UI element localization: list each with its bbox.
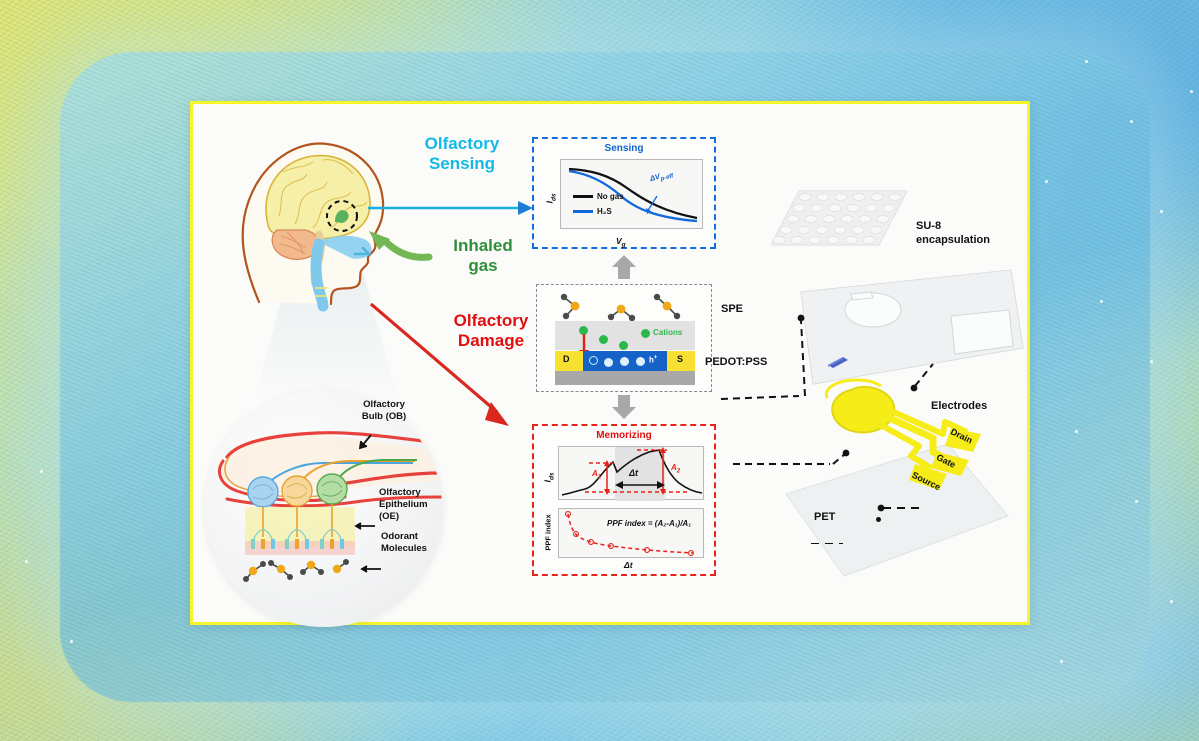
- sensing-legend-item-0: No gas: [573, 192, 624, 201]
- pet-label: PET: [814, 511, 835, 525]
- legend-swatch-no-gas: [573, 195, 593, 198]
- oe-label-line1: Olfactory: [379, 487, 421, 498]
- hole-ring: [589, 356, 598, 365]
- legend-label-h2s: H₂S: [597, 207, 612, 216]
- sensing-y-axis-label: Ids: [540, 187, 562, 205]
- cation-dot: [619, 341, 628, 350]
- sensing-legend-item-1: H₂S: [573, 207, 612, 216]
- sensing-xlabel-sub: g: [622, 242, 626, 249]
- odorant-molecules-label: Odorant Molecules: [381, 531, 453, 555]
- sensing-ylabel-sub: ds: [550, 193, 557, 201]
- su8-label: SU-8 encapsulation: [916, 219, 990, 248]
- main-figure-card: Olfactory Bulb (OB) Olfactory Epithelium…: [190, 101, 1030, 625]
- olfactory-sensing-label: Olfactory Sensing: [402, 134, 522, 173]
- oe-label-line2: Epithelium: [379, 499, 428, 510]
- olfactory-damage-arrow: [369, 302, 519, 432]
- mem-ylabel-sub: ds: [548, 472, 555, 480]
- spe-mesh-layer: [771, 189, 907, 259]
- su8-label-line2: encapsulation: [916, 234, 990, 246]
- cation-dot: [599, 335, 608, 344]
- sensing-plot: No gas H₂S: [560, 159, 703, 229]
- sensing-x-axis-label: Vg: [616, 231, 626, 249]
- sensing-panel-title: Sensing: [534, 143, 714, 154]
- memorizing-top-y-label: Ids: [539, 466, 559, 484]
- sensing-arrow: [368, 196, 533, 220]
- a1-sub: 1: [598, 475, 601, 481]
- pet-leader-dot: [876, 517, 881, 522]
- hole-dot: [604, 358, 613, 367]
- su8-label-line1: SU-8: [916, 220, 941, 232]
- memorizing-bottom-x-label: Δt: [624, 560, 633, 570]
- legend-label-no-gas: No gas: [597, 192, 624, 201]
- memorizing-bottom-y-label: PPF index: [536, 512, 558, 554]
- sensing-label-line2: Sensing: [429, 154, 495, 173]
- electrodes-label: Electrodes: [931, 400, 987, 414]
- oe-label-line3: (OE): [379, 511, 399, 522]
- hole-dot: [620, 357, 629, 366]
- odorant-label-line1: Odorant: [381, 531, 418, 542]
- spe-label: SPE: [721, 303, 743, 317]
- drain-label: D: [563, 354, 570, 364]
- inhaled-label-line2: gas: [468, 256, 497, 275]
- device-leader-lines: [633, 274, 1053, 544]
- figure-canvas: Olfactory Bulb (OB) Olfactory Epithelium…: [0, 0, 1199, 741]
- odorant-label-line2: Molecules: [381, 543, 427, 554]
- ppf-index-ylabel: PPF index: [544, 509, 553, 557]
- legend-swatch-h2s: [573, 210, 593, 213]
- sensing-label-line1: Olfactory: [425, 134, 500, 153]
- olfactory-epithelium-label: Olfactory Epithelium (OE): [379, 487, 455, 523]
- sensing-panel: Sensing No gas H₂S: [532, 137, 716, 249]
- inhaled-label-line1: Inhaled: [453, 236, 513, 255]
- inhaled-gas-label: Inhaled gas: [433, 236, 533, 275]
- pedot-pss-label: PEDOT:PSS: [705, 356, 767, 370]
- inhaled-gas-arrow: [363, 229, 431, 265]
- a1-annotation: A1: [592, 469, 601, 481]
